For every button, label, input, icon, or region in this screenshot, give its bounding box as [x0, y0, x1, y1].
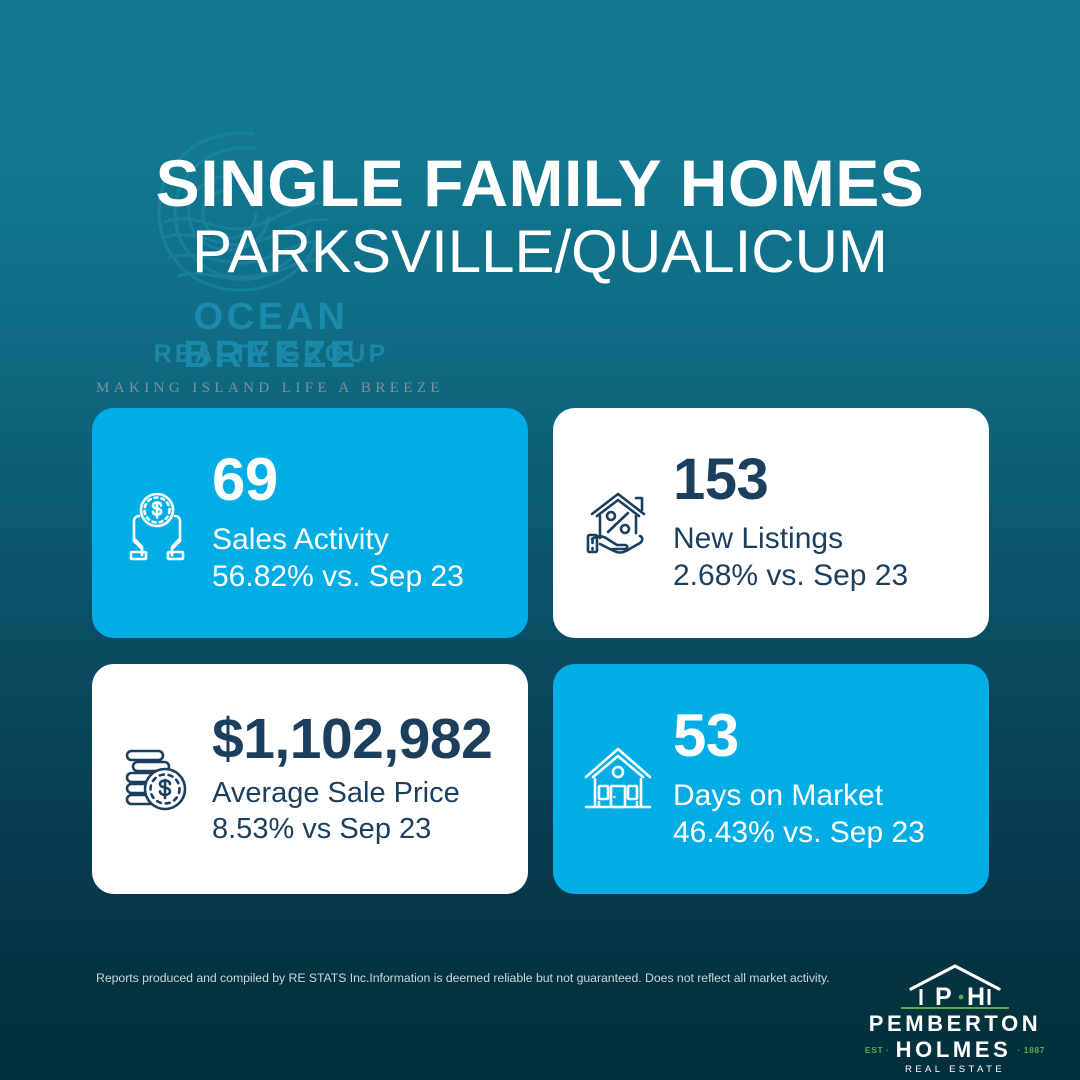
- stat-value: $1,102,982: [212, 711, 510, 768]
- svg-text:H: H: [967, 983, 985, 1009]
- logo-line-pemberton: PEMBERTON: [860, 1013, 1050, 1035]
- disclaimer-text: Reports produced and compiled by RE STAT…: [96, 971, 856, 986]
- stat-value: 53: [673, 706, 971, 766]
- page-title-block: SINGLE FAMILY HOMES PARKSVILLE/QUALICUM: [0, 150, 1080, 288]
- stat-card-days-on-market[interactable]: 53 Days on Market 46.43% vs. Sep 23: [553, 664, 989, 894]
- infographic-canvas: OCEAN BREEZE REALTY GROUP MAKING ISLAND …: [0, 0, 1080, 1080]
- logo-subtitle: REAL ESTATE: [860, 1065, 1050, 1075]
- hands-holding-coin-icon: [114, 480, 200, 566]
- logo-year-label: · 1887: [1017, 1045, 1045, 1055]
- house-roof-monogram-icon: P H: [905, 963, 1005, 1009]
- stat-change: 46.43% vs. Sep 23: [673, 815, 971, 852]
- stat-card-sales-activity[interactable]: 69 Sales Activity 56.82% vs. Sep 23: [92, 408, 528, 638]
- logo-line-holmes: HOLMES: [896, 1039, 1012, 1061]
- stat-label: Sales Activity: [212, 522, 510, 559]
- stat-card-body: 53 Days on Market 46.43% vs. Sep 23: [673, 706, 971, 851]
- stat-value: 69: [212, 450, 510, 510]
- logo-est-label: EST ·: [865, 1045, 890, 1055]
- pemberton-holmes-logo: P H PEMBERTON EST · HOLMES · 1887 REAL E…: [860, 963, 1050, 1063]
- stat-card-new-listings[interactable]: 153 New Listings 2.68% vs. Sep 23: [553, 408, 989, 638]
- page-subtitle: PARKSVILLE/QUALICUM: [0, 217, 1080, 288]
- logo-divider: [901, 1007, 1009, 1009]
- watermark-name-line2: REALTY GROUP: [111, 342, 431, 367]
- house-icon: [575, 736, 661, 822]
- stat-change: 8.53% vs Sep 23: [212, 812, 510, 847]
- svg-text:P: P: [935, 983, 952, 1009]
- stat-card-average-sale-price[interactable]: $1,102,982 Average Sale Price 8.53% vs S…: [92, 664, 528, 894]
- hand-holding-house-percent-icon: [575, 480, 661, 566]
- coin-stack-icon: [114, 736, 200, 822]
- stat-card-grid: 69 Sales Activity 56.82% vs. Sep 23: [92, 408, 990, 894]
- stat-change: 2.68% vs. Sep 23: [673, 558, 971, 595]
- stat-value: 153: [673, 451, 971, 509]
- stat-change: 56.82% vs. Sep 23: [212, 559, 510, 596]
- watermark-tagline: MAKING ISLAND LIFE A BREEZE: [95, 381, 445, 396]
- stat-card-body: 69 Sales Activity 56.82% vs. Sep 23: [212, 450, 510, 595]
- stat-label: New Listings: [673, 521, 971, 558]
- logo-holmes-row: EST · HOLMES · 1887: [860, 1039, 1050, 1061]
- stat-card-body: $1,102,982 Average Sale Price 8.53% vs S…: [212, 711, 510, 847]
- stat-label: Average Sale Price: [212, 776, 510, 811]
- stat-card-body: 153 New Listings 2.68% vs. Sep 23: [673, 451, 971, 594]
- page-title: SINGLE FAMILY HOMES: [0, 150, 1080, 217]
- stat-label: Days on Market: [673, 778, 971, 815]
- watermark-name-line1: OCEAN BREEZE: [111, 298, 431, 374]
